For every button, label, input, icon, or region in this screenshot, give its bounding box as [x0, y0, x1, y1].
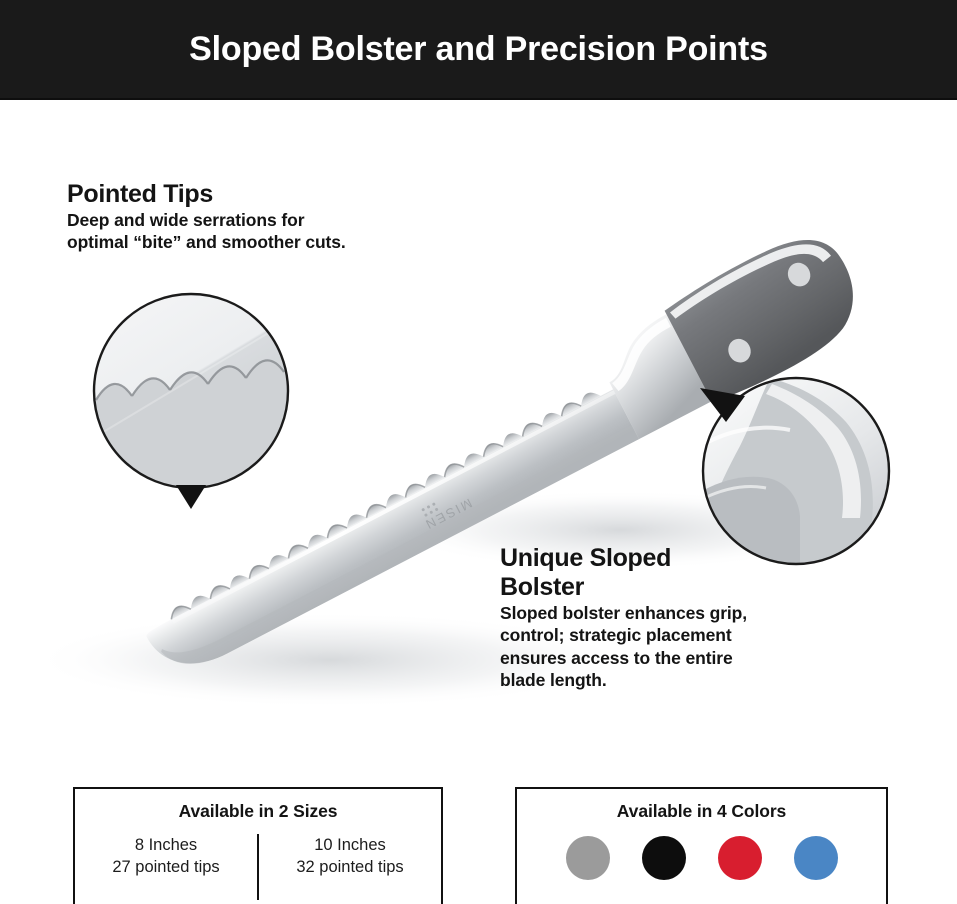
magnifier-pointer-down	[176, 485, 206, 509]
handle-rivet-rear	[784, 259, 815, 290]
size-option-8-inches: 8 Inches 27 pointed tips	[75, 834, 257, 900]
color-swatch-black[interactable]	[642, 836, 686, 880]
size-option-10-inches-label: 10 Inches	[265, 834, 435, 856]
color-swatch-blue[interactable]	[794, 836, 838, 880]
size-option-8-inches-tips: 27 pointed tips	[81, 856, 251, 878]
bolster-slope-highlight	[597, 318, 686, 392]
callout-sloped-bolster-body-line2: control; strategic placement	[500, 624, 800, 646]
sizes-columns: 8 Inches 27 pointed tips 10 Inches 32 po…	[75, 834, 441, 900]
available-colors-box: Available in 4 Colors	[515, 787, 888, 904]
page-title: Sloped Bolster and Precision Points	[189, 32, 768, 66]
available-sizes-box: Available in 2 Sizes 8 Inches 27 pointed…	[73, 787, 443, 904]
magnifier-pointer-upleft	[700, 388, 745, 422]
zoomed-serration-edge	[80, 296, 310, 500]
size-option-8-inches-label: 8 Inches	[81, 834, 251, 856]
zoomed-bolster-shape	[700, 378, 892, 570]
handle-rivet-front	[724, 335, 755, 366]
size-option-10-inches: 10 Inches 32 pointed tips	[259, 834, 441, 900]
callout-sloped-bolster: Unique Sloped Bolster Sloped bolster enh…	[500, 544, 800, 692]
available-sizes-title: Available in 2 Sizes	[75, 801, 441, 822]
callout-pointed-tips-heading: Pointed Tips	[67, 180, 397, 208]
magnifier-serrations	[80, 294, 310, 509]
handle-top-highlight	[667, 228, 832, 335]
callout-sloped-bolster-body-line3: ensures access to the entire	[500, 647, 800, 669]
product-infographic: Sloped Bolster and Precision Points	[0, 0, 957, 904]
callout-pointed-tips-body-line1: Deep and wide serrations for	[67, 209, 397, 231]
brand-mark: MISEN	[417, 487, 475, 533]
svg-text:MISEN: MISEN	[421, 496, 474, 533]
size-option-10-inches-tips: 32 pointed tips	[265, 856, 435, 878]
handle	[662, 221, 876, 407]
callout-sloped-bolster-heading-line2: Bolster	[500, 573, 800, 601]
color-swatch-gray[interactable]	[566, 836, 610, 880]
header-banner: Sloped Bolster and Precision Points	[0, 0, 957, 100]
magnifier-bolster	[700, 378, 892, 570]
callout-sloped-bolster-body-line4: blade length.	[500, 669, 800, 691]
callout-sloped-bolster-heading-line1: Unique Sloped	[500, 544, 800, 572]
available-colors-title: Available in 4 Colors	[517, 801, 886, 822]
callout-pointed-tips-body-line2: optimal “bite” and smoother cuts.	[67, 231, 397, 253]
color-swatch-row	[517, 836, 886, 880]
callout-sloped-bolster-body-line1: Sloped bolster enhances grip,	[500, 602, 800, 624]
color-swatch-red[interactable]	[718, 836, 762, 880]
bolster	[594, 314, 712, 439]
callout-pointed-tips: Pointed Tips Deep and wide serrations fo…	[67, 180, 397, 254]
